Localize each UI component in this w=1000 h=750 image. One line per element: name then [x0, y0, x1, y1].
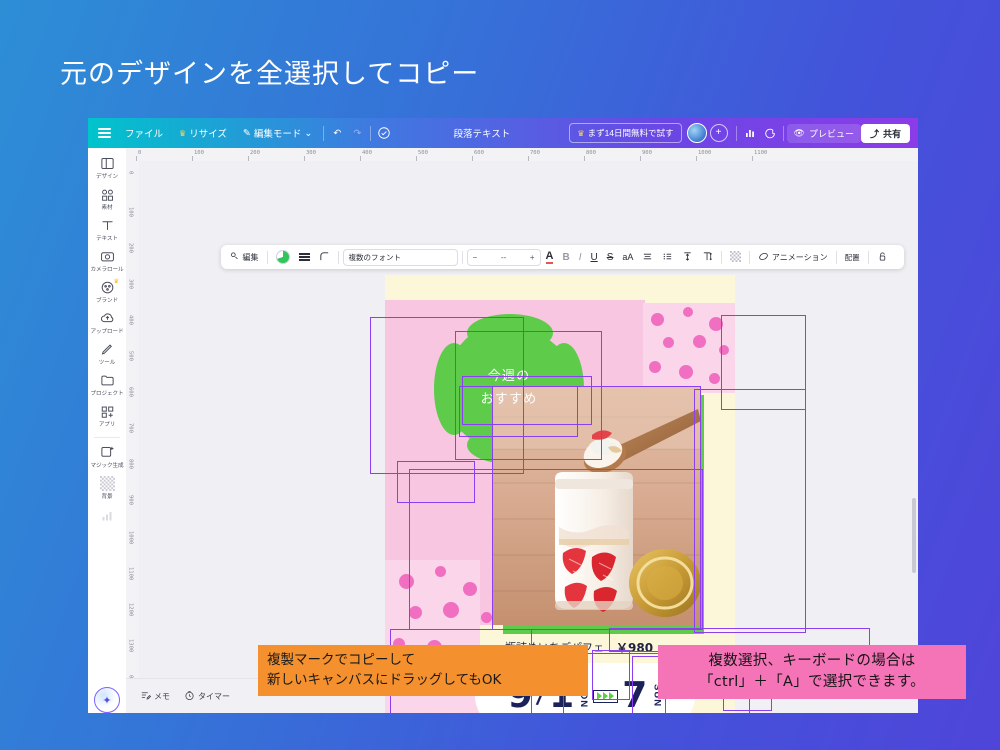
comment-icon[interactable]	[760, 123, 780, 143]
ruler-tick-h: 300	[306, 150, 316, 156]
ruler-tick-h: 100	[194, 150, 204, 156]
italic-button[interactable]: I	[575, 248, 586, 266]
trial-label: まず14日間無料で試す	[588, 127, 674, 139]
vertical-scrollbar[interactable]	[912, 498, 916, 573]
share-label: 共有	[883, 127, 901, 140]
transparency-icon	[730, 251, 741, 264]
undo-icon[interactable]: ↶	[327, 123, 347, 143]
ruler-tick-h: 400	[362, 150, 372, 156]
ruler-tick-v: 300	[128, 279, 134, 289]
pencil-icon: ✎	[243, 128, 251, 139]
ruler-tick-h: 1100	[754, 150, 767, 156]
divider	[267, 251, 268, 264]
font-family-value: 複数のフォント	[349, 252, 402, 263]
sidebar-item-tools[interactable]: ツール	[88, 342, 126, 366]
layout-icon	[100, 156, 115, 171]
timer-icon	[184, 690, 195, 703]
ruler-tick-v: 400	[128, 315, 134, 325]
letter-case-button[interactable]: aA	[618, 248, 637, 266]
timer-button[interactable]: タイマー	[184, 690, 230, 703]
ruler-tick-v: 800	[128, 459, 134, 469]
sidebar-label: 素材	[102, 203, 113, 211]
sidebar-item-uploads[interactable]: アップロード	[88, 311, 126, 335]
ruler-tick-h: 900	[642, 150, 652, 156]
font-family-select[interactable]: 複数のフォント	[343, 249, 458, 266]
slide-root: 元のデザインを全選択してコピー ファイル ♛ リサイズ ✎ 編集モード ⌄ ↶ …	[0, 0, 1000, 750]
sidebar-item-projects[interactable]: プロジェクト	[88, 373, 126, 397]
menu-resize[interactable]: ♛ リサイズ	[171, 123, 235, 143]
line-style-button[interactable]	[295, 248, 314, 266]
line-height-button[interactable]	[698, 248, 717, 266]
sidebar-item-magic-generate[interactable]: マジック生成	[88, 445, 126, 469]
animation-label: アニメーション	[772, 252, 828, 263]
folder-icon	[100, 373, 115, 388]
sidebar-label: マジック生成	[91, 461, 124, 469]
ruler-tick-v: 1300	[128, 639, 134, 652]
sidebar-item-camera-roll[interactable]: カメラロール	[88, 249, 126, 273]
tools-icon	[100, 342, 115, 357]
upload-icon	[100, 311, 115, 326]
divider	[338, 251, 339, 264]
divider	[94, 437, 120, 438]
lock-button[interactable]	[873, 248, 892, 266]
magic-generate-icon	[100, 445, 115, 460]
green-color-circle	[276, 250, 290, 264]
annotation-orange-line1: 複製マークでコピーして	[267, 651, 579, 671]
font-size-increase[interactable]: +	[530, 253, 535, 262]
background-icon	[100, 476, 115, 491]
sidebar-item-design[interactable]: デザイン	[88, 156, 126, 180]
date-end-day: 7	[622, 678, 647, 713]
divider	[836, 251, 837, 264]
sidebar-label: カメラロール	[91, 265, 124, 273]
add-collaborator-button[interactable]: +	[710, 124, 728, 142]
ruler-tick-v: 700	[128, 423, 134, 433]
sidebar-label: ブランド	[96, 296, 118, 304]
sidebar-item-text[interactable]: テキスト	[88, 218, 126, 242]
letter-spacing-icon	[682, 251, 693, 264]
font-size-value: --	[501, 253, 506, 262]
left-sidebar: デザイン 素材 テキスト カメラロール ♛	[88, 148, 127, 713]
camera-roll-icon	[100, 249, 115, 264]
edit-button[interactable]: 編集	[226, 248, 263, 266]
apps-icon	[100, 404, 115, 419]
text-color-button[interactable]: A	[542, 248, 558, 266]
menu-edit-mode[interactable]: ✎ 編集モード ⌄	[235, 123, 320, 143]
elements-icon	[100, 187, 115, 202]
product-price: ￥980	[616, 639, 653, 656]
divider	[370, 126, 371, 141]
preview-button[interactable]: 👁 プレビュー	[787, 124, 861, 143]
sidebar-item-elements[interactable]: 素材	[88, 187, 126, 211]
ruler-tick-v: 1100	[128, 567, 134, 580]
ruler-tick-v: 500	[128, 351, 134, 361]
ruler-tick-h: 1000	[698, 150, 711, 156]
sidebar-label: ツール	[99, 358, 115, 366]
canva-app-window: ファイル ♛ リサイズ ✎ 編集モード ⌄ ↶ ↷ 段落テキスト	[88, 118, 918, 713]
divider	[323, 126, 324, 141]
sidebar-item-more[interactable]	[88, 507, 126, 522]
animation-button[interactable]: アニメーション	[754, 248, 831, 266]
text-align-button[interactable]	[638, 248, 657, 266]
preview-label: プレビュー	[809, 127, 854, 140]
ruler-tick-v: 900	[128, 495, 134, 505]
sidebar-item-background[interactable]: 背景	[88, 476, 126, 500]
ruler-tick-v: 0	[128, 171, 134, 174]
notes-icon	[140, 690, 151, 703]
ruler-tick-v: 200	[128, 243, 134, 253]
badge-line-2: おすすめ	[481, 389, 538, 412]
bullet-list-button[interactable]	[658, 248, 677, 266]
transparency-button[interactable]	[726, 248, 745, 266]
element-toolbar: 編集 複数のフォント − -- + A B	[221, 245, 904, 269]
magic-studio-button[interactable]: ✦	[94, 687, 120, 713]
line-height-icon	[702, 251, 713, 264]
menu-file-label: ファイル	[125, 126, 163, 140]
vertical-ruler: 0100200300400500600700800900100011001200…	[126, 161, 140, 713]
magic-edit-icon	[230, 251, 240, 263]
sidebar-item-apps[interactable]: アプリ	[88, 404, 126, 428]
annotation-pink-line2: 「ctrl」＋「A」で選択できます。	[667, 672, 957, 693]
letter-spacing-button[interactable]	[678, 248, 697, 266]
annotation-pink: 複数選択、キーボードの場合は 「ctrl」＋「A」で選択できます。	[658, 645, 966, 699]
brand-icon	[100, 280, 115, 295]
page-title: 元のデザインを全選択してコピー	[60, 52, 479, 91]
menu-resize-label: リサイズ	[189, 126, 227, 140]
share-upload-icon: ⤴	[870, 127, 879, 140]
ruler-tick-h: 800	[586, 150, 596, 156]
font-size-decrease[interactable]: −	[473, 253, 478, 262]
sidebar-label: アプリ	[99, 420, 115, 428]
animation-icon	[758, 251, 769, 264]
avatar[interactable]	[687, 123, 707, 143]
app-top-bar: ファイル ♛ リサイズ ✎ 編集モード ⌄ ↶ ↷ 段落テキスト	[88, 118, 918, 148]
cloud-saved-icon[interactable]	[374, 123, 394, 143]
menu-edit-mode-label: 編集モード	[254, 126, 302, 140]
badge-text[interactable]: 今週の おすすめ	[445, 325, 573, 453]
divider	[736, 126, 737, 141]
text-color-icon: A	[546, 250, 554, 264]
annotation-pink-line1: 複数選択、キーボードの場合は	[667, 651, 957, 672]
crown-icon: ♛	[114, 278, 119, 285]
color-swatch-button[interactable]	[272, 248, 294, 266]
divider	[868, 251, 869, 264]
crown-icon: ♛	[179, 129, 186, 138]
edit-label: 編集	[243, 252, 259, 263]
strikethrough-button[interactable]: S	[603, 248, 618, 266]
position-button[interactable]: 配置	[841, 248, 864, 266]
trial-button[interactable]: ♛ まず14日間無料で試す	[569, 123, 681, 143]
ruler-tick-v: 100	[128, 207, 134, 217]
divider	[749, 251, 750, 264]
text-icon	[100, 218, 115, 233]
notes-button[interactable]: メモ	[140, 690, 170, 703]
sidebar-label: デザイン	[96, 172, 118, 180]
sidebar-label: テキスト	[96, 234, 118, 242]
ruler-tick-v: 1200	[128, 603, 134, 616]
arrows-icon	[593, 690, 618, 703]
crown-icon: ♛	[577, 129, 584, 138]
menu-file[interactable]: ファイル	[117, 123, 171, 143]
bullet-list-icon	[662, 251, 673, 264]
underline-button[interactable]: U	[586, 248, 601, 266]
sidebar-label: プロジェクト	[91, 389, 124, 397]
chevron-down-icon: ⌄	[304, 128, 312, 139]
eye-icon: 👁	[794, 128, 805, 139]
sidebar-label: 背景	[102, 492, 113, 500]
ruler-tick-h: 500	[418, 150, 428, 156]
corner-radius-button[interactable]	[315, 248, 334, 266]
text-align-icon	[642, 251, 653, 264]
paragraph-text-label[interactable]: 段落テキスト	[446, 123, 519, 143]
divider	[783, 126, 784, 141]
bold-button[interactable]: B	[558, 248, 573, 266]
ruler-tick-h: 0	[138, 150, 141, 156]
ruler-tick-h: 700	[530, 150, 540, 156]
chart-icon	[100, 507, 114, 522]
timer-label: タイマー	[198, 691, 230, 702]
ruler-tick-h: 600	[474, 150, 484, 156]
annotation-orange: 複製マークでコピーして 新しいキャンバスにドラッグしてもOK	[258, 645, 588, 696]
annotation-orange-line2: 新しいキャンバスにドラッグしてもOK	[267, 671, 579, 691]
sidebar-label: アップロード	[91, 327, 124, 335]
ruler-tick-h: 200	[250, 150, 260, 156]
lock-icon	[877, 251, 888, 264]
sidebar-item-brand[interactable]: ♛ ブランド	[88, 280, 126, 304]
redo-icon[interactable]: ↷	[347, 123, 367, 143]
share-button[interactable]: ⤴ 共有	[861, 124, 910, 143]
bar-chart-icon[interactable]	[740, 123, 760, 143]
divider	[721, 251, 722, 264]
corner-radius-icon	[319, 251, 330, 264]
badge-line-1: 今週の	[488, 366, 531, 389]
font-size-stepper[interactable]: − -- +	[467, 249, 541, 266]
ruler-tick-v: 1000	[128, 531, 134, 544]
divider	[462, 251, 463, 264]
horizontal-ruler: 010020030040050060070080090010001100	[126, 148, 918, 162]
line-style-icon	[299, 253, 310, 261]
green-bar-bottom[interactable]	[503, 625, 704, 634]
dot-pattern-top-right[interactable]	[643, 303, 735, 393]
notes-label: メモ	[154, 691, 170, 702]
hamburger-icon[interactable]	[98, 128, 111, 138]
ruler-tick-v: 600	[128, 387, 134, 397]
